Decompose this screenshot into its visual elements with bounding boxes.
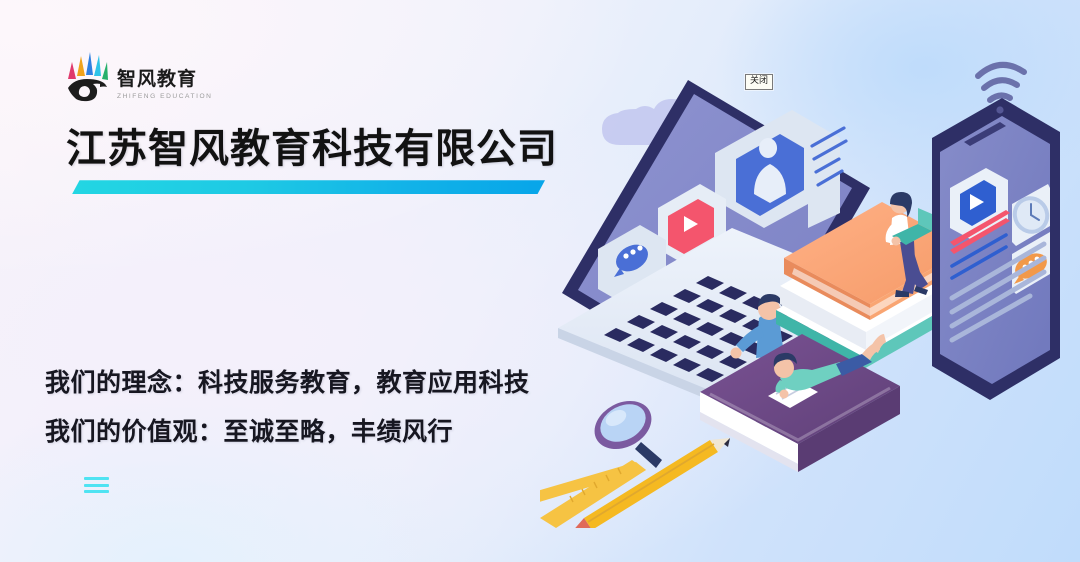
tagline-values: 我们的价值观：至诚至略，丰绩风行 xyxy=(45,419,530,444)
zhifeng-eye-logo-icon xyxy=(63,50,111,102)
title-underline-bar xyxy=(72,180,545,194)
online-education-illustration xyxy=(540,28,1080,528)
company-logo[interactable]: 智风教育 ZHIFENG EDUCATION xyxy=(63,50,212,102)
logo-wordmark: 智风教育 ZHIFENG EDUCATION xyxy=(117,70,212,102)
page-title: 江苏智风教育科技有限公司 xyxy=(66,126,558,173)
tagline-philosophy: 我们的理念：科技服务教育，教育应用科技 xyxy=(45,370,530,395)
tagline-block: 我们的理念：科技服务教育，教育应用科技 我们的价值观：至诚至略，丰绩风行 xyxy=(45,370,530,444)
hamburger-menu-icon[interactable] xyxy=(84,477,109,493)
hamburger-line-2 xyxy=(84,484,109,487)
smartphone xyxy=(928,98,1068,418)
hamburger-line-3 xyxy=(84,490,109,493)
title-block: 江苏智风教育科技有限公司 xyxy=(66,126,558,194)
promo-banner: 智风教育 ZHIFENG EDUCATION 江苏智风教育科技有限公司 我们的理… xyxy=(0,0,1080,562)
magnifier-icon xyxy=(586,391,662,468)
logo-name-cn: 智风教育 xyxy=(117,70,212,90)
hamburger-line-1 xyxy=(84,477,109,480)
close-button[interactable]: 关闭 xyxy=(745,74,773,90)
logo-name-en: ZHIFENG EDUCATION xyxy=(117,93,212,100)
